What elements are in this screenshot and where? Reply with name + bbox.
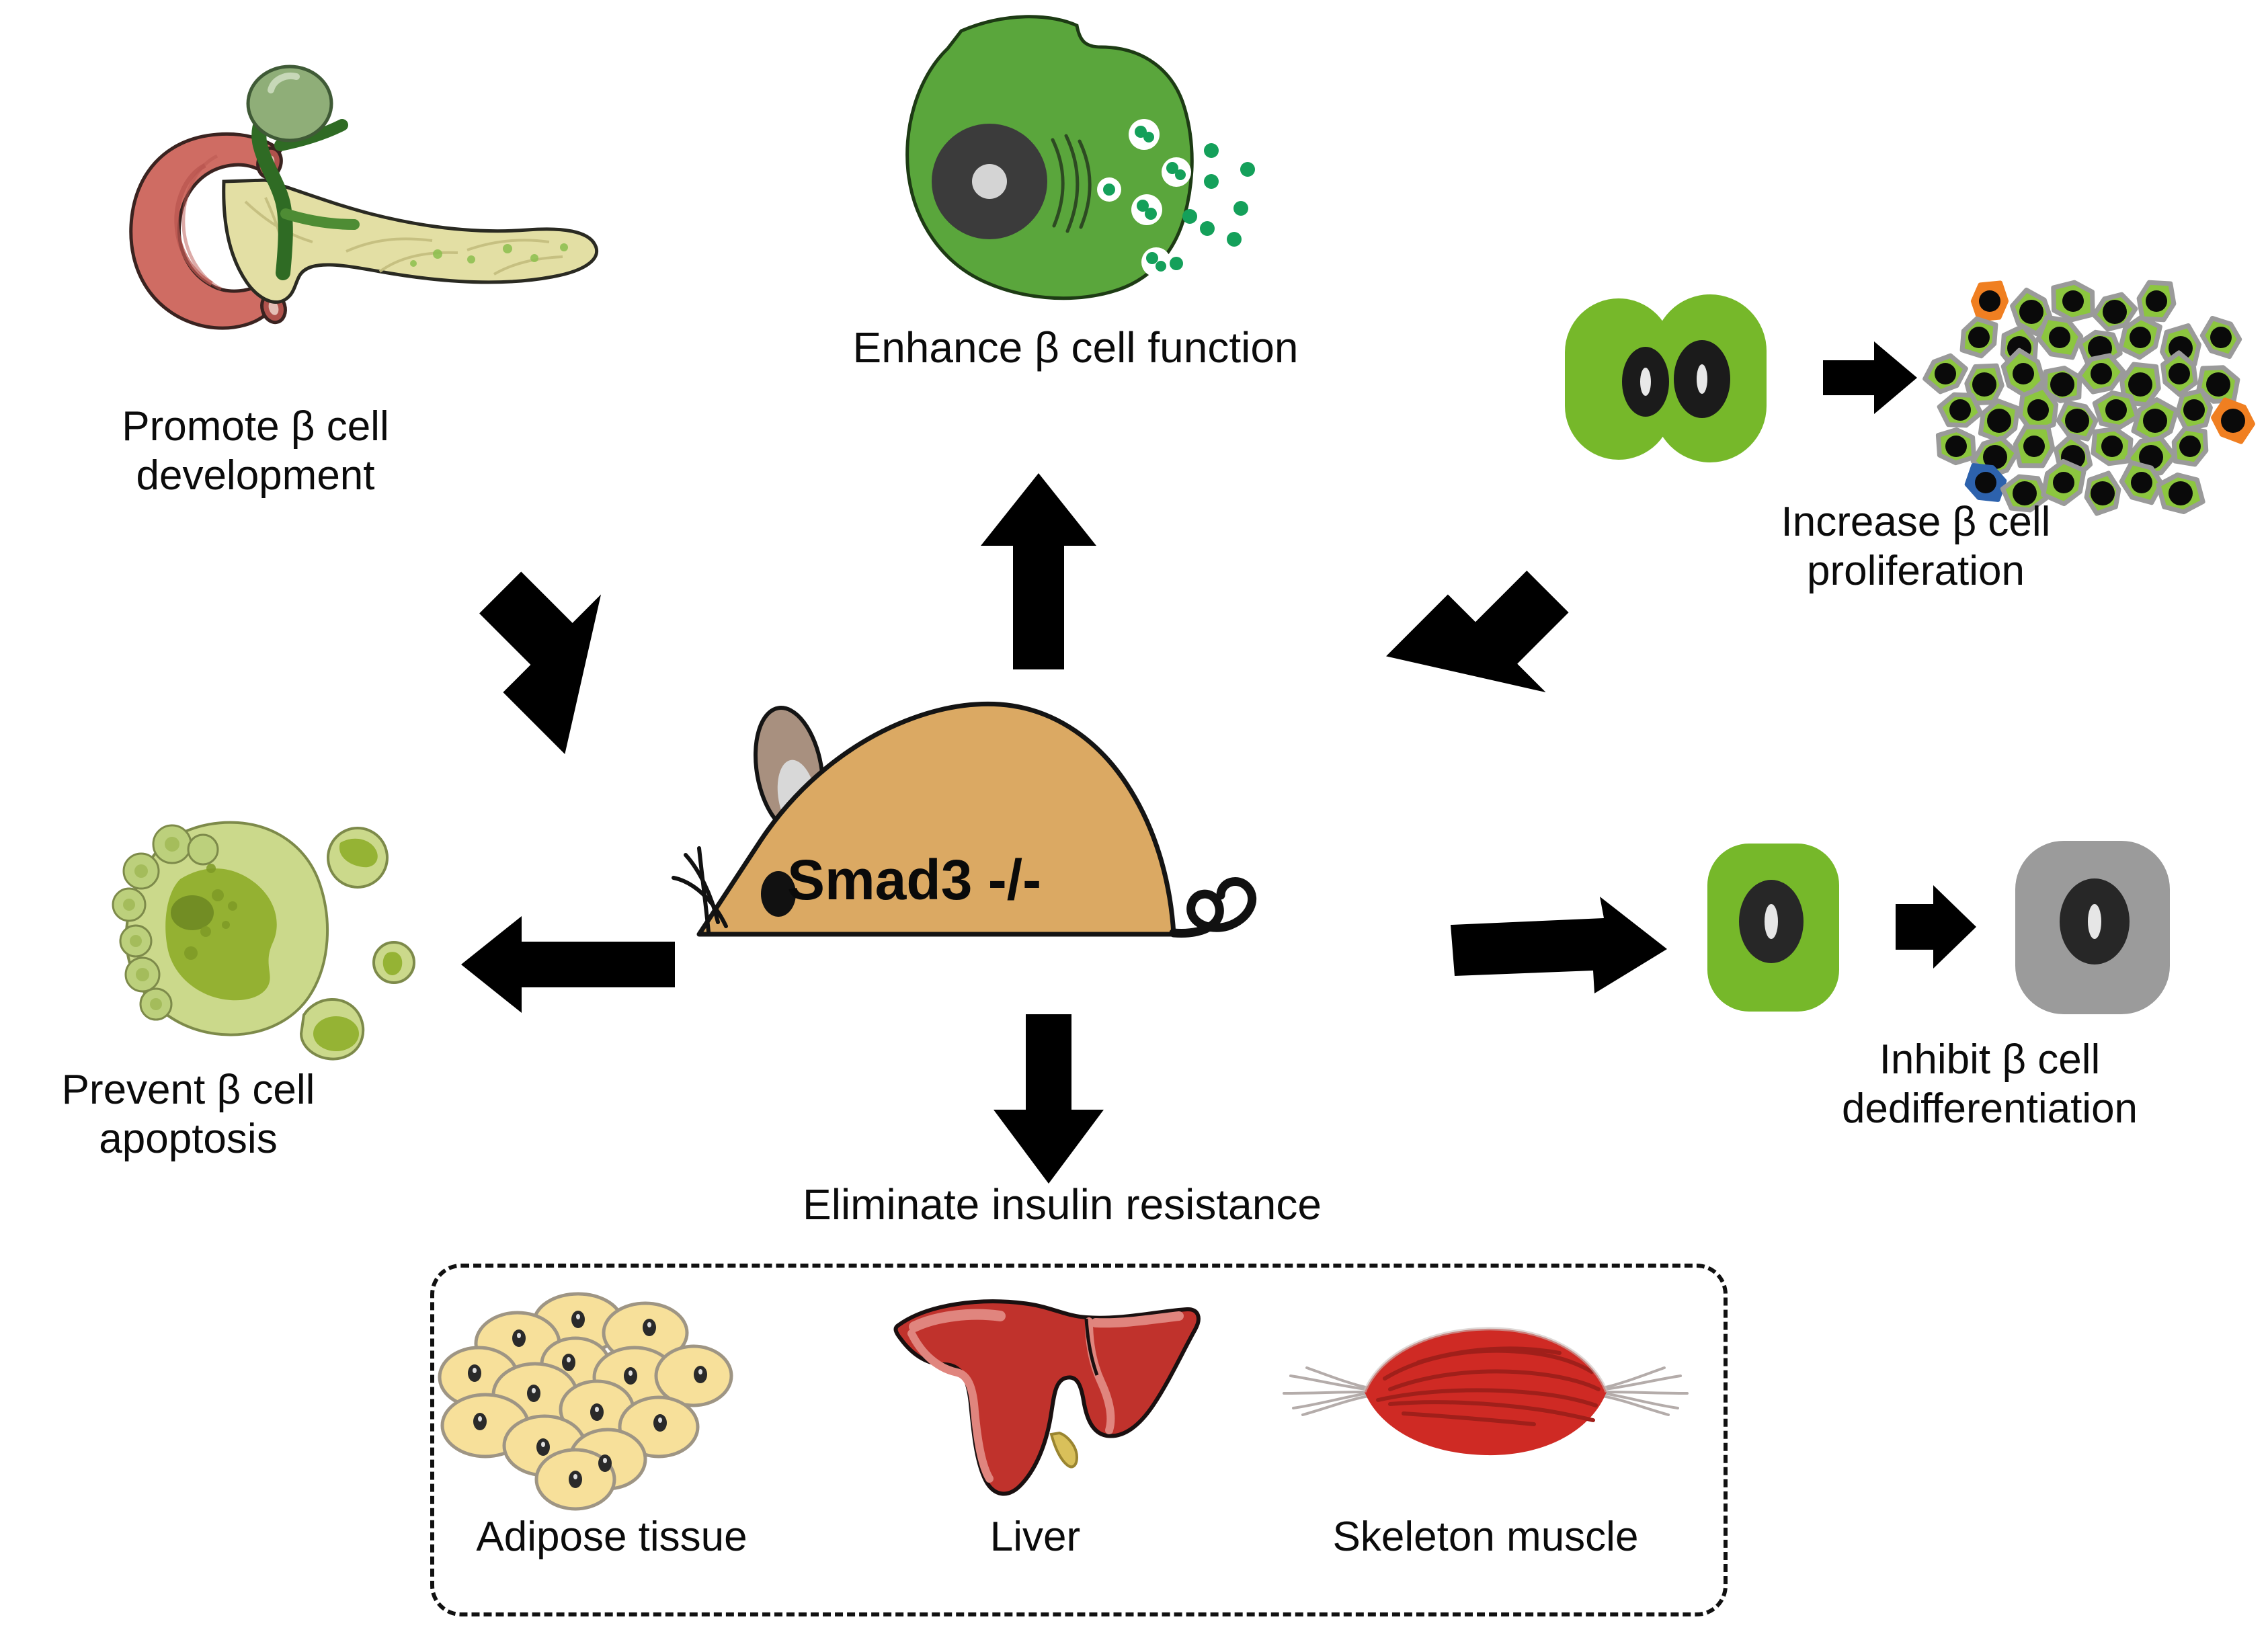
label-skeleton-muscle: Skeleton muscle xyxy=(1277,1512,1694,1561)
pancreas-svg xyxy=(64,81,602,336)
proliferation-svg xyxy=(1560,269,2259,511)
apoptosis-svg xyxy=(67,793,444,1075)
pancreas-icon xyxy=(64,81,602,336)
muscle-svg xyxy=(1277,1314,1694,1482)
apoptotic-cell-icon xyxy=(67,793,444,1075)
secreting-beta-cell-icon xyxy=(840,13,1277,302)
caption-prevent-apoptosis: Prevent β cell apoptosis xyxy=(0,1065,376,1163)
liver-icon xyxy=(887,1297,1203,1499)
mouse-genotype-label: Smad3 -/- xyxy=(787,848,1041,911)
arrow-up xyxy=(978,470,1099,672)
green-to-gray-cell-icon xyxy=(1701,837,2238,1032)
diagram-canvas: Promote β cell development xyxy=(0,0,2268,1642)
dediff-svg xyxy=(1701,837,2238,1032)
skeletal-muscle-icon xyxy=(1277,1314,1694,1482)
mouse-svg: Smad3 -/- xyxy=(679,672,1358,954)
caption-promote-development: Promote β cell development xyxy=(40,402,471,500)
adipocytes-icon xyxy=(444,1294,780,1495)
adipose-svg xyxy=(444,1294,780,1495)
caption-increase-proliferation: Increase β cell proliferation xyxy=(1680,497,2151,596)
caption-enhance-function: Enhance β cell function xyxy=(713,323,1439,374)
label-adipose-tissue: Adipose tissue xyxy=(410,1512,813,1561)
arrow-down-right xyxy=(1445,894,1674,1022)
arrow-down xyxy=(988,1012,1109,1186)
caption-eliminate-insulin-resistance: Eliminate insulin resistance xyxy=(706,1180,1418,1231)
label-liver: Liver xyxy=(894,1512,1176,1561)
caption-inhibit-dedifferentiation: Inhibit β cell dedifferentiation xyxy=(1721,1035,2259,1133)
mouse-icon: Smad3 -/- xyxy=(679,672,1358,954)
beta-cell-svg xyxy=(840,13,1277,302)
liver-svg xyxy=(887,1297,1203,1499)
dividing-cells-to-islet-icon xyxy=(1560,269,2259,511)
arrow-up-left xyxy=(464,565,665,760)
arrow-up-right xyxy=(1398,565,1600,760)
arrow-left xyxy=(457,911,679,1018)
islet-cluster xyxy=(1925,282,2253,514)
